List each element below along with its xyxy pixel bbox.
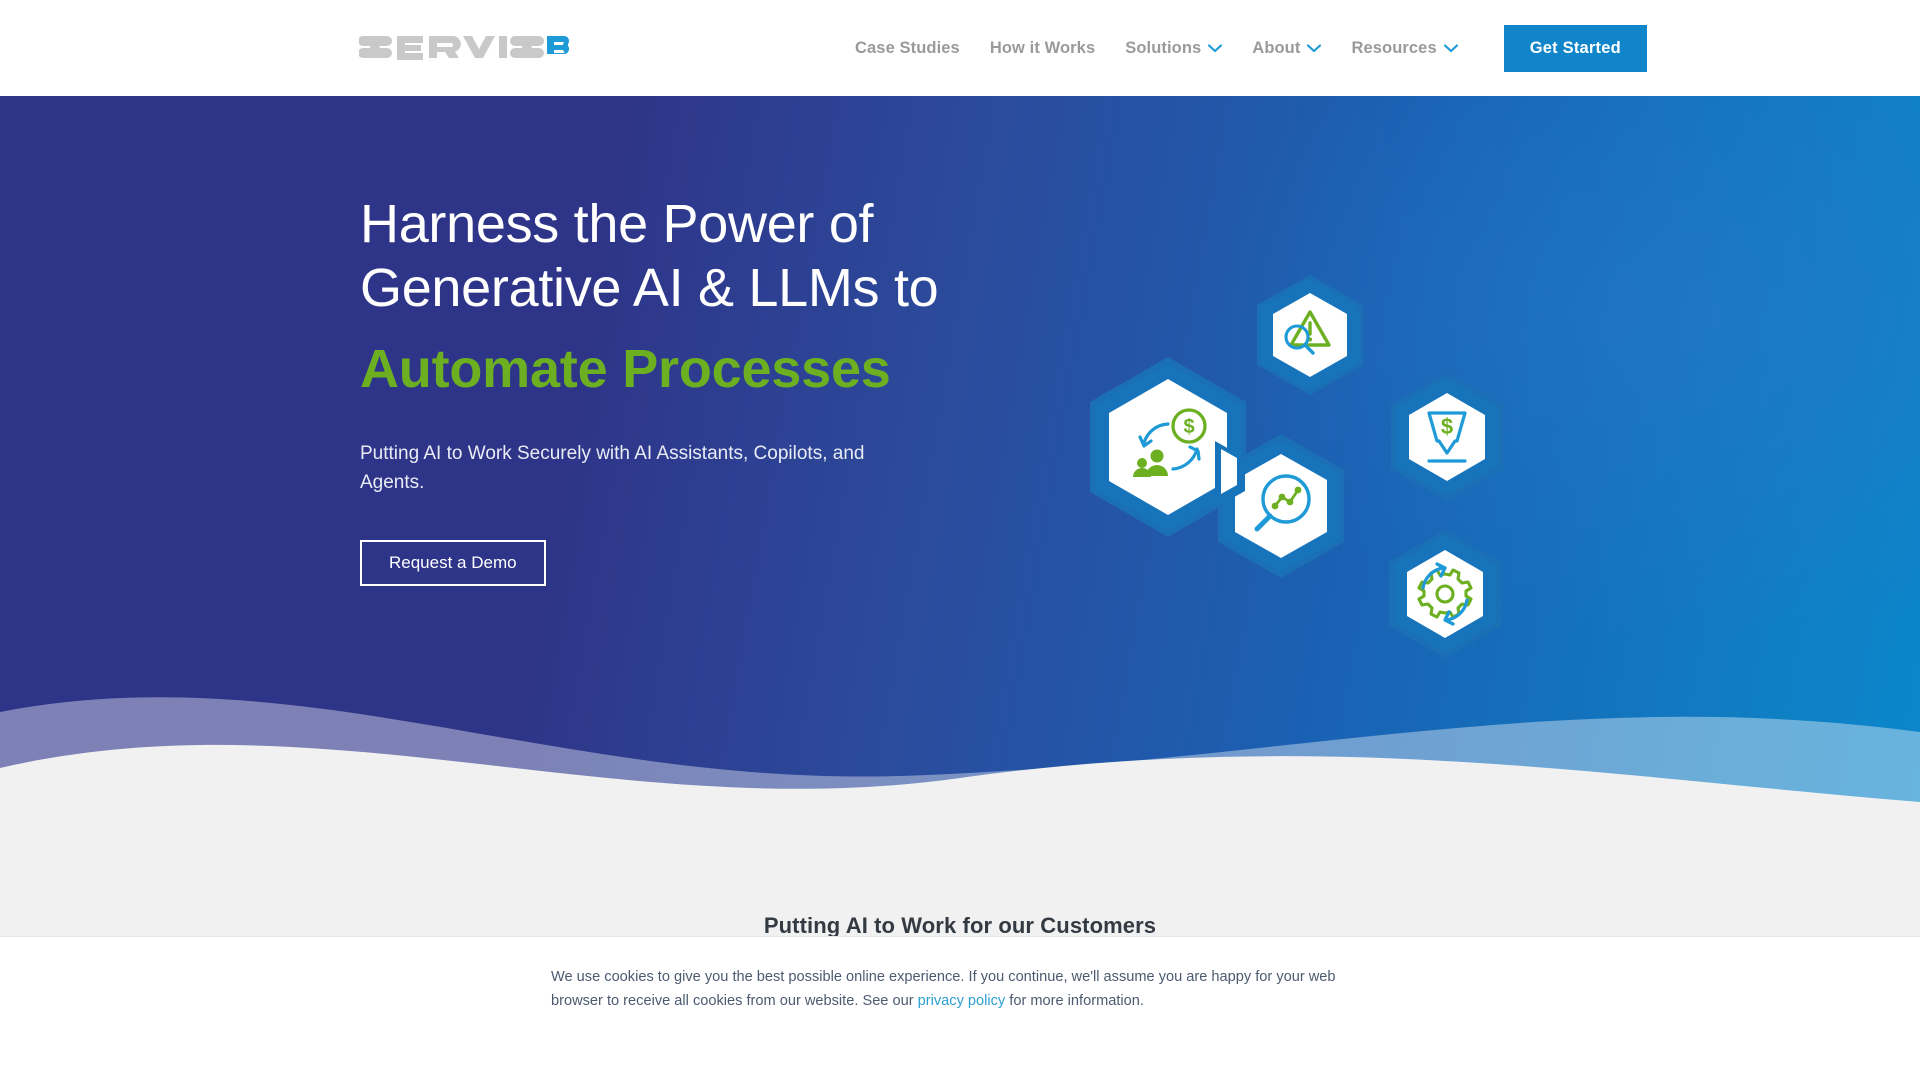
cookie-text-after: for more information. (1005, 993, 1144, 1009)
get-started-button[interactable]: Get Started (1504, 25, 1647, 72)
privacy-policy-link[interactable]: privacy policy (918, 993, 1006, 1009)
servisbot-logo[interactable] (359, 26, 569, 70)
hex-gear-refresh (1389, 530, 1501, 658)
cookie-message: We use cookies to give you the best poss… (551, 966, 1371, 1013)
main-navigation: Case Studies How it Works Solutions Abou… (840, 0, 1647, 96)
nav-label: About (1252, 39, 1300, 58)
nav-item-about[interactable]: About (1237, 39, 1336, 58)
nav-item-case-studies[interactable]: Case Studies (840, 39, 975, 58)
hero-headline-line1: Harness the Power of (360, 193, 1040, 257)
hex-alert-search (1257, 275, 1363, 395)
nav-label: Case Studies (855, 39, 960, 58)
site-header: Case Studies How it Works Solutions Abou… (0, 0, 1920, 96)
request-demo-button[interactable]: Request a Demo (360, 540, 546, 586)
hero-section: Harness the Power of Generative AI & LLM… (0, 96, 1920, 818)
hex-money-down: $ (1391, 373, 1503, 501)
nav-label: Resources (1351, 39, 1436, 58)
hero-headline-accent: Automate Processes (360, 338, 1040, 402)
page-root: Case Studies How it Works Solutions Abou… (0, 0, 1920, 1080)
robot-head-o (563, 27, 569, 62)
nav-item-how-it-works[interactable]: How it Works (975, 39, 1110, 58)
nav-item-solutions[interactable]: Solutions (1110, 39, 1237, 58)
cookie-consent-banner: We use cookies to give you the best poss… (0, 936, 1920, 1080)
chevron-down-icon (1307, 44, 1321, 53)
hero-copy: Harness the Power of Generative AI & LLM… (360, 193, 1040, 586)
nav-item-resources[interactable]: Resources (1336, 39, 1472, 58)
chevron-down-icon (1208, 44, 1222, 53)
svg-text:$: $ (1183, 416, 1194, 438)
nav-label: How it Works (990, 39, 1095, 58)
hero-subtext: Putting AI to Work Securely with AI Assi… (360, 439, 905, 497)
svg-text:$: $ (1441, 414, 1453, 439)
hero-headline-line2: Generative AI & LLMs to (360, 257, 1040, 321)
chevron-down-icon (1444, 44, 1458, 53)
nav-label: Solutions (1125, 39, 1201, 58)
hexagon-cluster-graphic: $ (1085, 271, 1555, 691)
